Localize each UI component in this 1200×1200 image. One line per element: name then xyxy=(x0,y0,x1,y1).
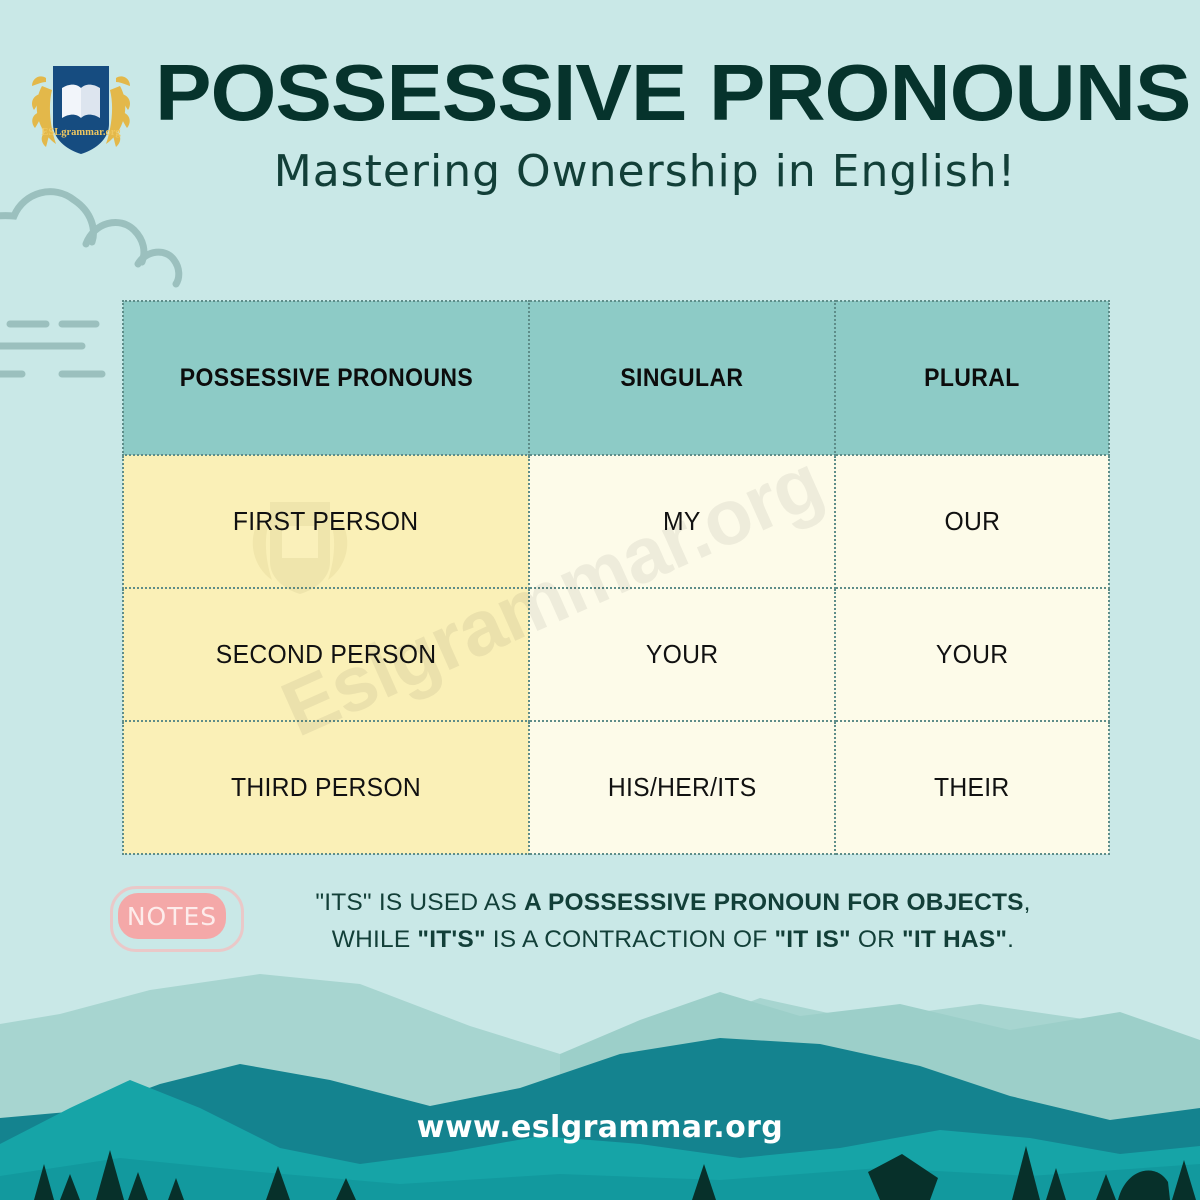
infographic-page: ESLgrammar.org POSSESSIVE PRONOUNS Maste… xyxy=(0,0,1200,1200)
notes-section: NOTES "ITS" IS USED AS A POSSESSIVE PRON… xyxy=(110,884,1100,974)
cell-plural-label: THEIR xyxy=(934,772,1010,803)
notes-line2-part-f: "IT HAS" xyxy=(902,926,1007,953)
notes-line1-part-a: "ITS" IS USED AS xyxy=(315,889,524,916)
cell-plural: YOUR xyxy=(835,588,1109,721)
cell-plural: OUR xyxy=(835,455,1109,588)
notes-text: "ITS" IS USED AS A POSSESSIVE PRONOUN FO… xyxy=(246,884,1100,958)
cell-person-label: THIRD PERSON xyxy=(231,772,421,803)
notes-badge-label: NOTES xyxy=(118,893,226,939)
table-row: FIRST PERSON MY OUR xyxy=(123,455,1109,588)
column-header-plural: PLURAL xyxy=(835,301,1109,455)
column-header-pronouns-label: POSSESSIVE PRONOUNS xyxy=(179,364,472,393)
page-subtitle: Mastering Ownership in English! xyxy=(150,142,1140,202)
notes-line2-part-e: OR xyxy=(851,926,902,953)
page-title: POSSESSIVE PRONOUNS xyxy=(148,48,1197,138)
cell-singular-label: YOUR xyxy=(646,639,719,670)
cell-person-label: FIRST PERSON xyxy=(233,506,419,537)
column-header-singular: SINGULAR xyxy=(529,301,835,455)
cell-singular: MY xyxy=(529,455,835,588)
footer-scenery: www.eslgrammar.org xyxy=(0,968,1200,1200)
header: ESLgrammar.org POSSESSIVE PRONOUNS Maste… xyxy=(0,0,1200,230)
column-header-plural-label: PLURAL xyxy=(924,364,1019,393)
table-row: SECOND PERSON YOUR YOUR xyxy=(123,588,1109,721)
notes-line1-part-c: , xyxy=(1024,889,1031,916)
notes-badge: NOTES xyxy=(110,886,238,946)
notes-line2-part-d: "IT IS" xyxy=(774,926,850,953)
cell-plural-label: YOUR xyxy=(936,639,1009,670)
site-url: www.eslgrammar.org xyxy=(0,1110,1200,1145)
cell-singular-label: MY xyxy=(663,506,701,537)
book-shield-icon: ESLgrammar.org xyxy=(26,50,136,162)
table-row: THIRD PERSON HIS/HER/ITS THEIR xyxy=(123,721,1109,854)
cell-plural-label: OUR xyxy=(944,506,1000,537)
cell-person: FIRST PERSON xyxy=(123,455,529,588)
cell-singular-label: HIS/HER/ITS xyxy=(608,772,757,803)
cell-singular: YOUR xyxy=(529,588,835,721)
cell-person: SECOND PERSON xyxy=(123,588,529,721)
notes-line-2: WHILE "IT'S" IS A CONTRACTION OF "IT IS"… xyxy=(246,921,1100,958)
notes-line2-part-c: IS A CONTRACTION OF xyxy=(486,926,775,953)
pronouns-table: POSSESSIVE PRONOUNS SINGULAR PLURAL FIRS… xyxy=(122,300,1110,855)
column-header-singular-label: SINGULAR xyxy=(621,364,744,393)
table-header-row: POSSESSIVE PRONOUNS SINGULAR PLURAL xyxy=(123,301,1109,455)
notes-line1-part-b: A POSSESSIVE PRONOUN FOR OBJECTS xyxy=(524,889,1024,916)
pronouns-table-container: Eslgrammar.org POSSESSIVE PRONOUNS SINGU… xyxy=(122,300,1110,853)
cell-singular: HIS/HER/ITS xyxy=(529,721,835,854)
mountains-illustration xyxy=(0,968,1200,1200)
svg-text:ESLgrammar.org: ESLgrammar.org xyxy=(41,127,121,138)
notes-line2-part-b: "IT'S" xyxy=(417,926,485,953)
cell-person-label: SECOND PERSON xyxy=(216,639,437,670)
notes-line2-part-g: . xyxy=(1007,926,1014,953)
cell-person: THIRD PERSON xyxy=(123,721,529,854)
column-header-pronouns: POSSESSIVE PRONOUNS xyxy=(123,301,529,455)
cell-plural: THEIR xyxy=(835,721,1109,854)
notes-line-1: "ITS" IS USED AS A POSSESSIVE PRONOUN FO… xyxy=(246,884,1100,921)
notes-line2-part-a: WHILE xyxy=(332,926,418,953)
